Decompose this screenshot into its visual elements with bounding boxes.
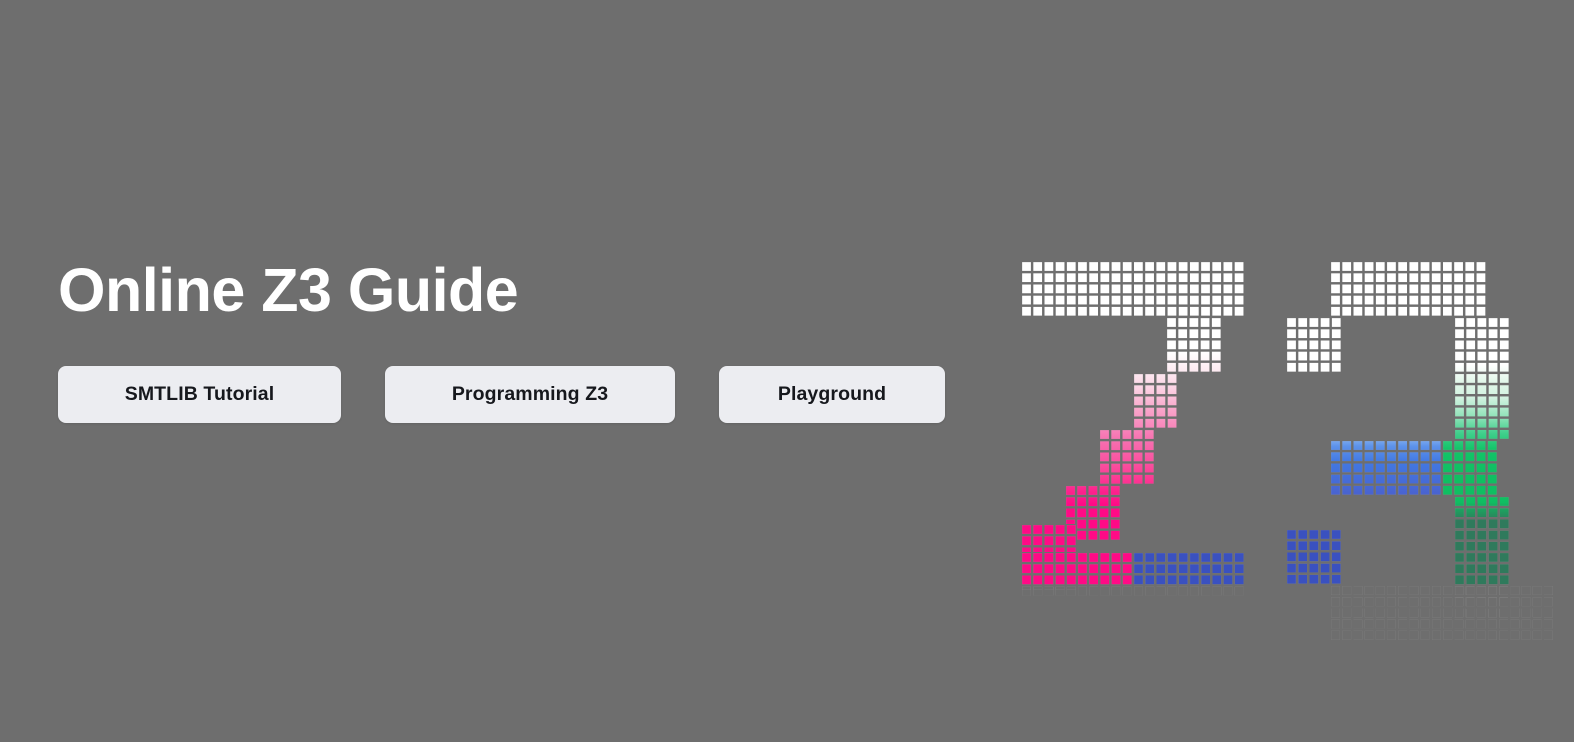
glyph-seven-block-7 [1133, 552, 1245, 597]
glyph-seven-block-1 [1166, 317, 1222, 373]
glyph-seven-block-0 [1021, 261, 1245, 317]
color-layer [1286, 317, 1342, 373]
cell-highlight [1431, 585, 1554, 641]
smtlib-tutorial-button[interactable]: SMTLIB Tutorial [58, 366, 341, 423]
z3-pixel-logo [1021, 261, 1521, 586]
glyph-three-block-8 [1431, 585, 1554, 641]
glyph-three [1286, 261, 1521, 586]
color-layer [1133, 373, 1178, 429]
glyph-three-block-7 [1330, 585, 1431, 641]
color-layer [1442, 440, 1498, 496]
hero-text-block: Online Z3 Guide [58, 258, 958, 324]
color-layer [1286, 529, 1342, 585]
color-layer [1166, 317, 1222, 373]
color-layer [1454, 317, 1510, 440]
glyph-three-block-6 [1286, 529, 1342, 585]
playground-button[interactable]: Playground [719, 366, 945, 423]
glyph-three-block-1 [1286, 317, 1342, 373]
glyph-seven-block-6 [1021, 552, 1133, 597]
color-layer [1021, 261, 1245, 317]
glyph-seven-block-2 [1133, 373, 1178, 429]
color-layer [1431, 585, 1554, 586]
color-layer [1099, 429, 1155, 485]
color-layer [1133, 552, 1245, 586]
color-layer [1454, 496, 1510, 586]
glyph-three-block-3 [1330, 440, 1442, 496]
glyph-seven-block-3 [1099, 429, 1155, 485]
cell-gridlines [1431, 585, 1554, 641]
programming-z3-button[interactable]: Programming Z3 [385, 366, 675, 423]
color-layer [1330, 585, 1431, 586]
hero-section: Online Z3 Guide SMTLIB Tutorial Programm… [0, 0, 1574, 742]
cell-highlight [1330, 585, 1431, 641]
glyph-three-block-4 [1442, 440, 1498, 496]
glyph-three-block-0 [1330, 261, 1487, 317]
cell-gridlines [1330, 585, 1431, 641]
color-layer [1330, 440, 1442, 496]
glyph-seven [1021, 261, 1247, 586]
hero-button-row: SMTLIB Tutorial Programming Z3 Playgroun… [58, 366, 945, 423]
page-title: Online Z3 Guide [58, 258, 958, 324]
color-layer [1330, 261, 1487, 317]
glyph-three-block-2 [1454, 317, 1510, 440]
color-layer [1021, 552, 1133, 586]
